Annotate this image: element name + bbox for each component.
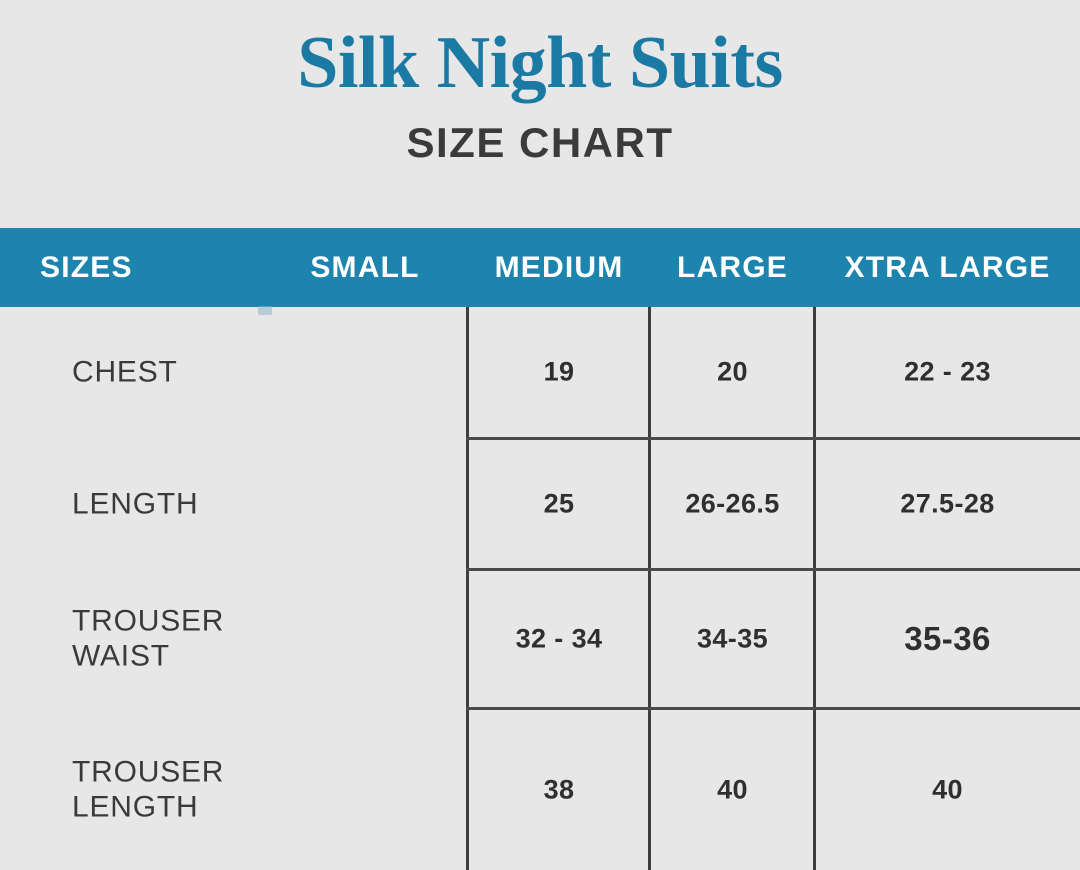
row-label-trouser-waist: TROUSER WAIST xyxy=(72,604,452,675)
size-chart-table: SIZES SMALL MEDIUM LARGE XTRA LARGE CHES… xyxy=(0,228,1080,870)
cell-length-large: 26-26.5 xyxy=(650,489,815,520)
cell-length-xtra-large: 27.5-28 xyxy=(815,489,1080,520)
row-label-line-2: LENGTH xyxy=(72,790,452,825)
row-divider-2 xyxy=(466,568,1080,571)
column-divider-medium xyxy=(466,307,469,870)
table-row: TROUSER WAIST 32 - 34 34-35 35-36 xyxy=(0,571,1080,707)
table-row: TROUSER LENGTH 38 40 40 xyxy=(0,710,1080,870)
column-header-xtra-large: XTRA LARGE xyxy=(815,228,1080,307)
cell-trouser-length-medium: 38 xyxy=(468,775,650,806)
table-row: LENGTH 25 26-26.5 27.5-28 xyxy=(0,440,1080,568)
row-label-trouser-length: TROUSER LENGTH xyxy=(72,755,452,826)
column-divider-large xyxy=(648,307,651,870)
title-block: Silk Night Suits SIZE CHART xyxy=(0,0,1080,164)
row-label-chest: CHEST xyxy=(72,354,452,389)
page-title: SIZE CHART xyxy=(0,100,1080,164)
cell-trouser-length-xtra-large: 40 xyxy=(815,775,1080,806)
cell-trouser-length-large: 40 xyxy=(650,775,815,806)
column-header-small: SMALL xyxy=(290,228,440,307)
table-row: CHEST 19 20 22 - 23 xyxy=(0,307,1080,437)
brand-title: Silk Night Suits xyxy=(0,0,1080,100)
scan-artifact xyxy=(258,306,272,315)
size-chart-page: Silk Night Suits SIZE CHART SIZES SMALL … xyxy=(0,0,1080,870)
cell-chest-medium: 19 xyxy=(468,357,650,388)
cell-trouser-waist-xtra-large: 35-36 xyxy=(815,620,1080,658)
table-header-row: SIZES SMALL MEDIUM LARGE XTRA LARGE xyxy=(0,228,1080,307)
cell-trouser-waist-large: 34-35 xyxy=(650,624,815,655)
column-divider-xtra-large xyxy=(813,307,816,870)
cell-chest-large: 20 xyxy=(650,357,815,388)
column-header-large: LARGE xyxy=(650,228,815,307)
column-header-medium: MEDIUM xyxy=(468,228,650,307)
cell-length-medium: 25 xyxy=(468,489,650,520)
row-divider-3 xyxy=(466,707,1080,710)
column-header-sizes: SIZES xyxy=(40,228,240,307)
row-divider-1 xyxy=(466,437,1080,440)
cell-trouser-waist-medium: 32 - 34 xyxy=(468,624,650,655)
row-label-line-1: TROUSER xyxy=(72,755,452,790)
cell-chest-xtra-large: 22 - 23 xyxy=(815,357,1080,388)
row-label-line-2: WAIST xyxy=(72,639,452,674)
row-label-length: LENGTH xyxy=(72,486,452,521)
row-label-line-1: TROUSER xyxy=(72,604,452,639)
